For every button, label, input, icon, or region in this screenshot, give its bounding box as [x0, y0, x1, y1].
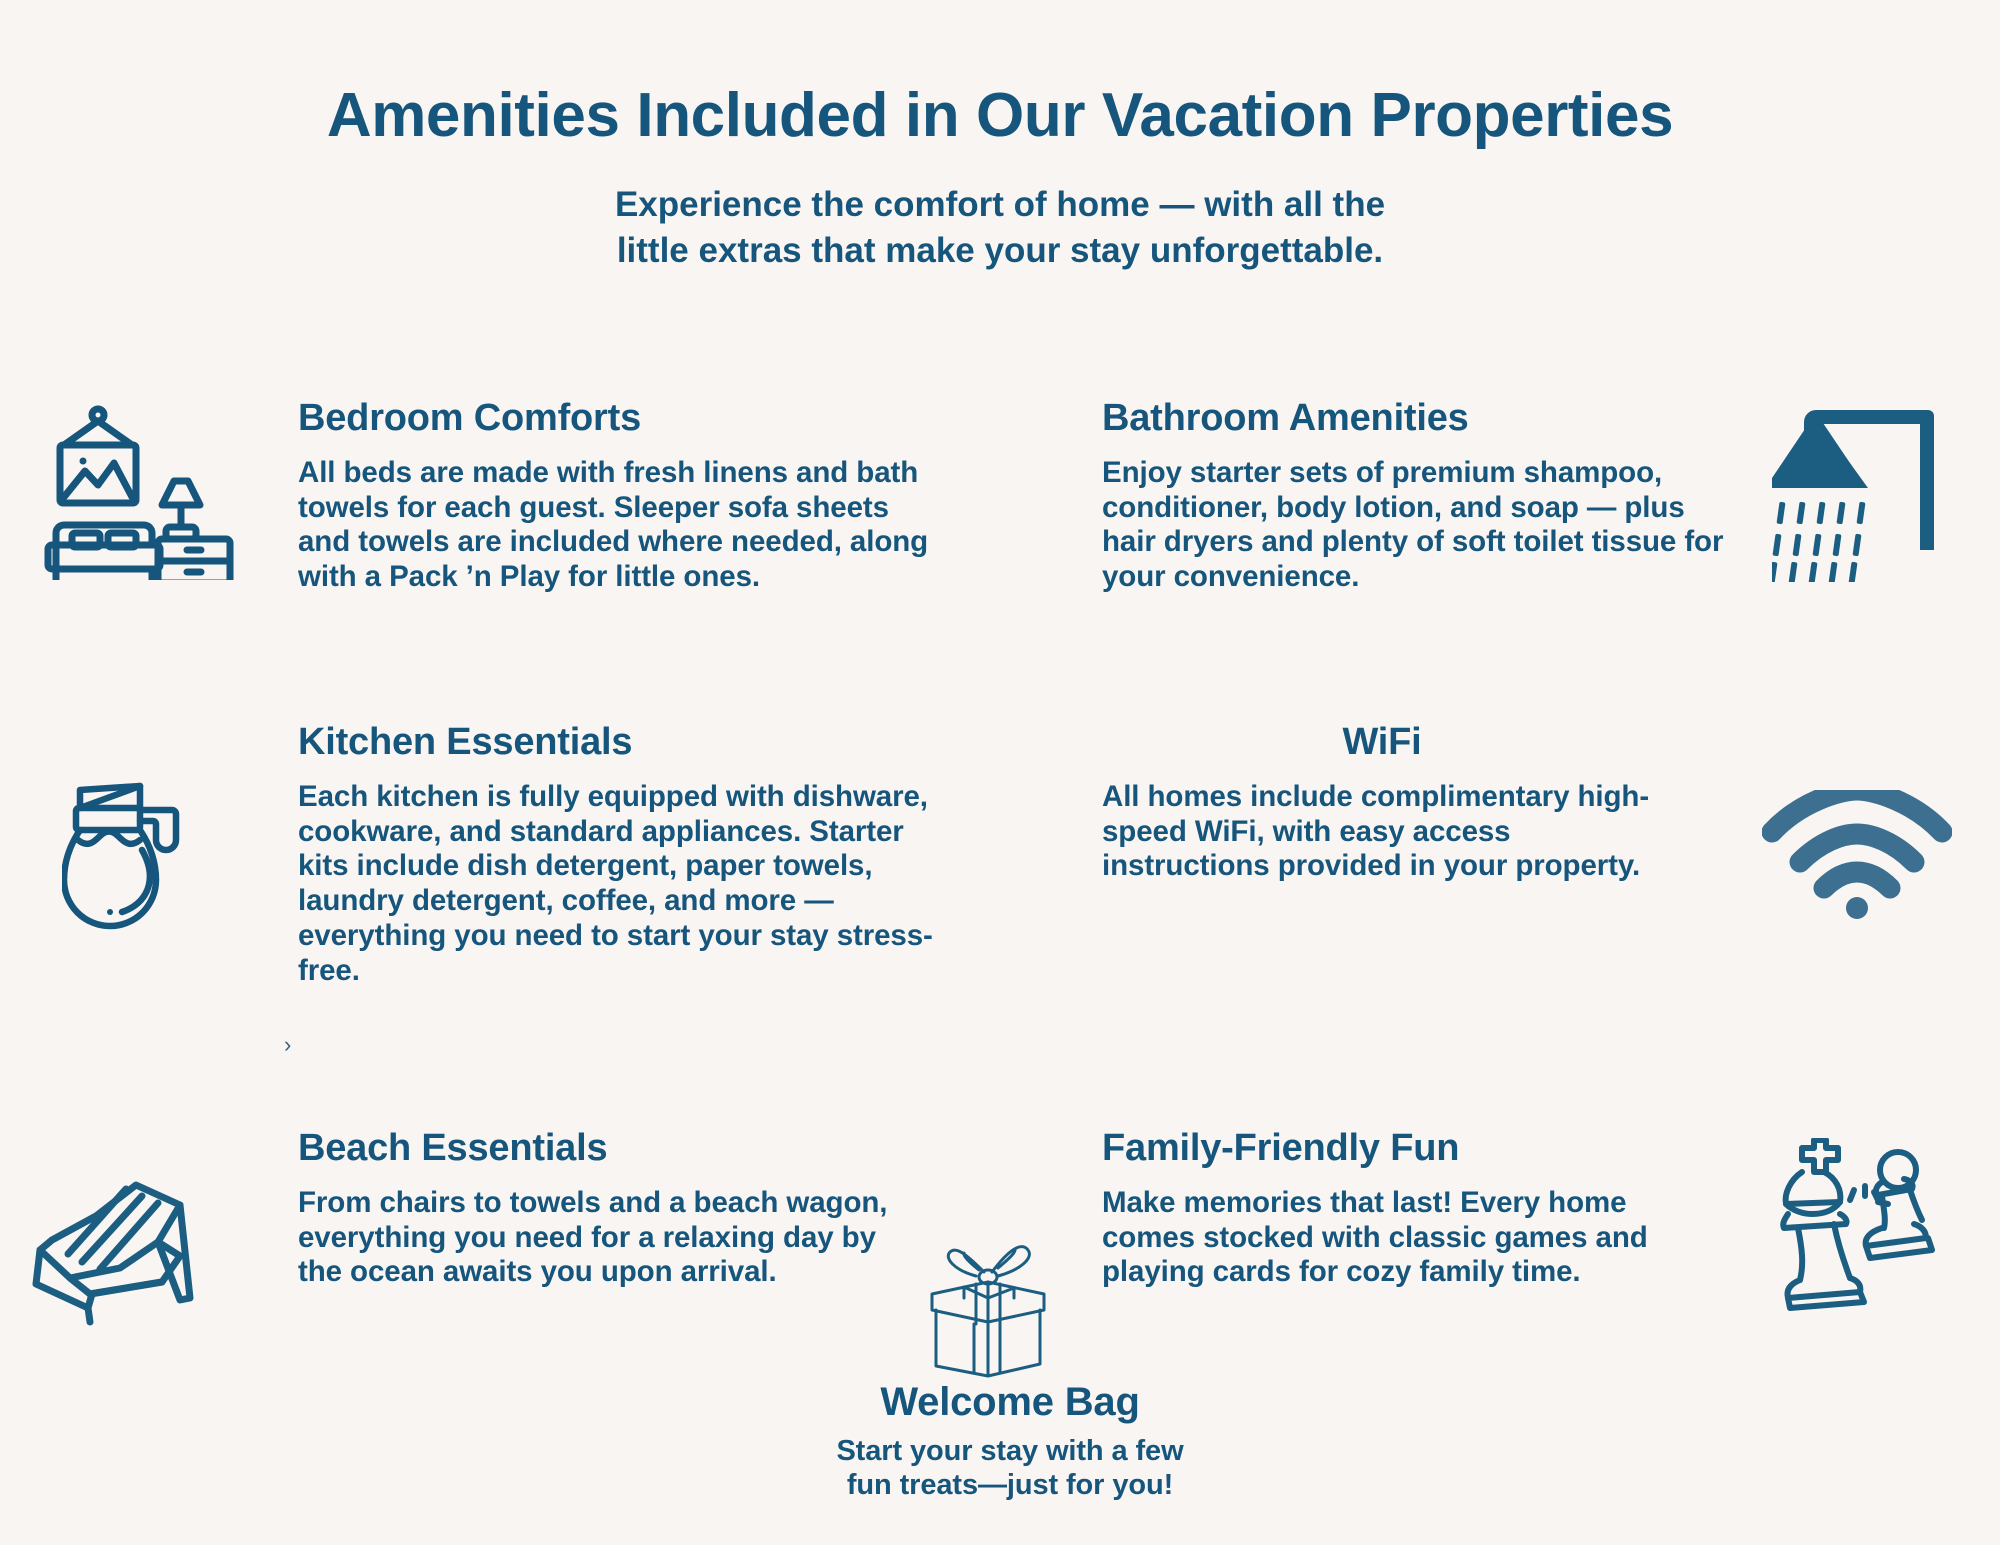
page-subtitle: Experience the comfort of home — with al…: [500, 182, 1500, 274]
wifi-icon: [1762, 790, 1952, 925]
coffee-pot-icon: [62, 778, 212, 943]
welcome-body: Start your stay with a few fun treats—ju…: [740, 1434, 1280, 1502]
beach-heading: Beach Essentials: [298, 1128, 918, 1170]
section-family-friendly-fun: Family-Friendly Fun Make memories that l…: [1102, 1128, 1702, 1290]
kitchen-body: › Each kitchen is fully equipped with di…: [298, 780, 958, 989]
kitchen-body-text: Each kitchen is fully equipped with dish…: [298, 780, 933, 987]
bed-nightstand-icon: [40, 405, 240, 585]
page-subtitle-line-2: little extras that make your stay unforg…: [500, 228, 1500, 274]
wifi-heading: WiFi: [1102, 722, 1662, 764]
stray-glyph-icon: ›: [284, 1032, 291, 1058]
page-title: Amenities Included in Our Vacation Prope…: [0, 80, 2000, 151]
chess-pieces-icon: [1768, 1138, 1943, 1318]
bathroom-body: Enjoy starter sets of premium shampoo, c…: [1102, 456, 1742, 595]
amenities-infographic: Amenities Included in Our Vacation Prope…: [0, 0, 2000, 1545]
kitchen-heading: Kitchen Essentials: [298, 722, 958, 764]
shower-icon: [1772, 402, 1962, 587]
page-subtitle-line-1: Experience the comfort of home — with al…: [500, 182, 1500, 228]
beach-chair-icon: [30, 1172, 215, 1337]
section-bedroom-comforts: Bedroom Comforts All beds are made with …: [298, 398, 948, 595]
section-wifi: WiFi All homes include complimentary hig…: [1102, 722, 1662, 884]
beach-body: From chairs to towels and a beach wagon,…: [298, 1186, 918, 1290]
wifi-body: All homes include complimentary high-spe…: [1102, 780, 1662, 884]
bedroom-heading: Bedroom Comforts: [298, 398, 948, 440]
section-bathroom-amenities: Bathroom Amenities Enjoy starter sets of…: [1102, 398, 1742, 595]
bathroom-heading: Bathroom Amenities: [1102, 398, 1742, 440]
gift-box-icon: [922, 1238, 1054, 1383]
section-welcome-bag: Welcome Bag Start your stay with a few f…: [740, 1380, 1280, 1502]
section-beach-essentials: Beach Essentials From chairs to towels a…: [298, 1128, 918, 1290]
welcome-body-line-2: fun treats—just for you!: [847, 1469, 1173, 1501]
family-body: Make memories that last! Every home come…: [1102, 1186, 1702, 1290]
welcome-body-line-1: Start your stay with a few: [836, 1435, 1183, 1467]
bedroom-body: All beds are made with fresh linens and …: [298, 456, 948, 595]
welcome-heading: Welcome Bag: [740, 1380, 1280, 1424]
section-kitchen-essentials: Kitchen Essentials › Each kitchen is ful…: [298, 722, 958, 989]
family-heading: Family-Friendly Fun: [1102, 1128, 1702, 1170]
